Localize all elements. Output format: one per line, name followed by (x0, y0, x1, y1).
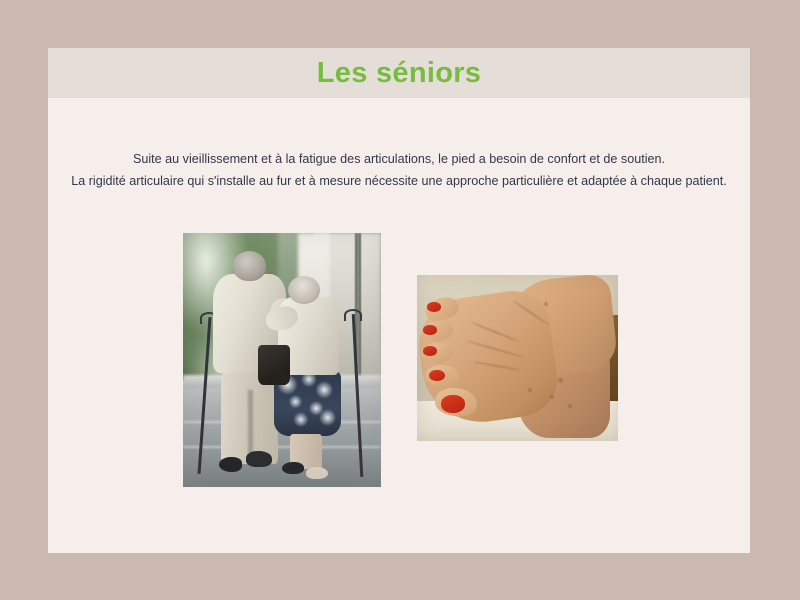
body-text-block: Suite au vieillissement et à la fatigue … (56, 148, 742, 192)
body-line-1: Suite au vieillissement et à la fatigue … (56, 148, 742, 170)
photo-softening-overlay (183, 233, 381, 487)
elderly-couple-photo (183, 233, 381, 487)
slide-stage: Les séniors Suite au vieillissement et à… (0, 0, 800, 600)
slide-canvas: Les séniors Suite au vieillissement et à… (48, 48, 750, 553)
elderly-feet-photo (417, 275, 618, 441)
feet-photo-softening-overlay (417, 275, 618, 441)
body-line-2: La rigidité articulaire qui s'installe a… (56, 170, 742, 192)
page-title: Les séniors (48, 48, 750, 98)
